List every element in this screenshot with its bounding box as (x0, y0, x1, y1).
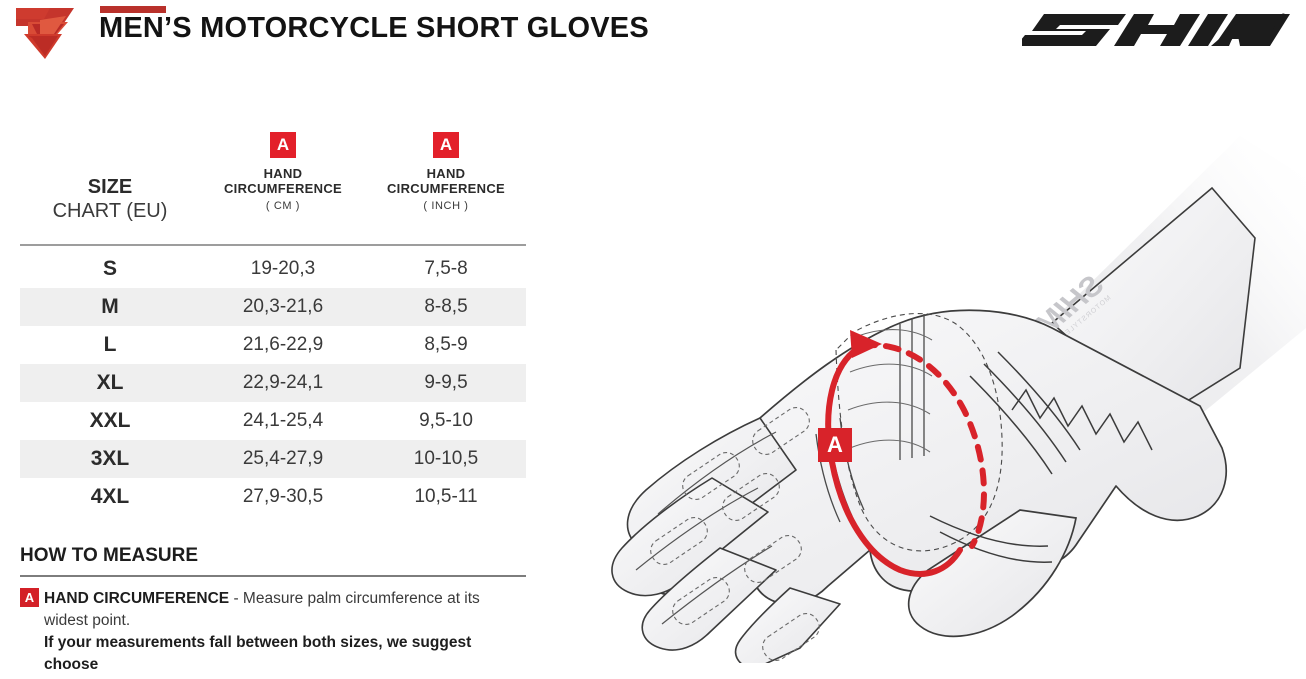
glove-illustration: SHIMA MOTORSTYLE ESTABLISHED 2008 (600, 118, 1306, 663)
cell-hand-circumference-inch: 8,5-9 (366, 326, 526, 364)
table-row: L21,6-22,98,5-9 (20, 326, 526, 364)
cell-size: L (20, 326, 200, 364)
cell-hand-circumference-inch: 9,5-10 (366, 402, 526, 440)
table-body: S19-20,37,5-8M20,3-21,68-8,5L21,6-22,98,… (20, 250, 526, 516)
measure-note-line1: If your measurements fall between both s… (44, 632, 540, 654)
shima-arrow-mark-icon (14, 4, 76, 60)
column-header-cm-line2: CIRCUMFERENCE (200, 181, 366, 196)
cell-hand-circumference-inch: 7,5-8 (366, 250, 526, 288)
cell-hand-circumference-cm: 25,4-27,9 (200, 440, 366, 478)
a-marker-badge-label: A (827, 432, 843, 457)
table-row: M20,3-21,68-8,5 (20, 288, 526, 326)
column-header-hand-circumference-cm: A HAND CIRCUMFERENCE ( CM ) (200, 132, 366, 213)
page-title: MEN’S MOTORCYCLE SHORT GLOVES (99, 12, 649, 44)
cell-hand-circumference-inch: 10,5-11 (366, 478, 526, 516)
cell-size: XXL (20, 402, 200, 440)
table-row: XXL24,1-25,49,5-10 (20, 402, 526, 440)
measure-item-hand-circumference: AHAND CIRCUMFERENCE - Measure palm circu… (20, 588, 540, 610)
table-row: XL22,9-24,19-9,5 (20, 364, 526, 402)
column-header-size: SIZE CHART (EU) (20, 132, 200, 223)
measure-item-text: - Measure palm circumference at its (229, 590, 480, 607)
cell-hand-circumference-cm: 20,3-21,6 (200, 288, 366, 326)
table-row: S19-20,37,5-8 (20, 250, 526, 288)
cell-size: M (20, 288, 200, 326)
size-chart-page: MEN’S MOTORCYCLE SHORT GLOVES ® SIZE CHA… (0, 0, 1306, 679)
how-to-measure-section: HOW TO MEASURE AHAND CIRCUMFERENCE - Mea… (20, 545, 540, 676)
a-badge-inch-icon: A (433, 132, 459, 158)
shima-wordmark-logo: ® (1022, 6, 1292, 52)
column-header-inch-unit: ( INCH ) (366, 199, 526, 213)
cell-size: XL (20, 364, 200, 402)
cell-hand-circumference-cm: 24,1-25,4 (200, 402, 366, 440)
table-header-divider (20, 244, 526, 246)
column-header-inch-line1: HAND (366, 166, 526, 181)
cell-hand-circumference-cm: 19-20,3 (200, 250, 366, 288)
column-header-inch-line2: CIRCUMFERENCE (366, 181, 526, 196)
column-header-cm-line1: HAND (200, 166, 366, 181)
cell-hand-circumference-cm: 22,9-24,1 (200, 364, 366, 402)
cell-hand-circumference-cm: 21,6-22,9 (200, 326, 366, 364)
column-header-hand-circumference-inch: A HAND CIRCUMFERENCE ( INCH ) (366, 132, 526, 213)
cell-size: 3XL (20, 440, 200, 478)
column-header-cm-unit: ( CM ) (200, 199, 366, 213)
cell-hand-circumference-inch: 10-10,5 (366, 440, 526, 478)
a-badge-measure-icon: A (20, 588, 39, 607)
column-header-size-sub: CHART (EU) (20, 199, 200, 223)
how-to-measure-title: HOW TO MEASURE (20, 545, 540, 567)
table-row: 3XL25,4-27,910-10,5 (20, 440, 526, 478)
cell-hand-circumference-inch: 9-9,5 (366, 364, 526, 402)
measure-note-line2: choose (44, 654, 540, 676)
table-row: 4XL27,9-30,510,5-11 (20, 478, 526, 516)
registered-mark: ® (1280, 12, 1287, 22)
cell-size: 4XL (20, 478, 200, 516)
a-badge-cm-icon: A (270, 132, 296, 158)
column-header-size-main: SIZE (20, 176, 200, 199)
page-header: MEN’S MOTORCYCLE SHORT GLOVES ® (0, 0, 1306, 62)
how-to-measure-body: AHAND CIRCUMFERENCE - Measure palm circu… (20, 588, 540, 676)
measure-item-label: HAND CIRCUMFERENCE (44, 590, 229, 607)
measure-item-text-line2: widest point. (44, 610, 540, 632)
size-chart-table: SIZE CHART (EU) A HAND CIRCUMFERENCE ( C… (20, 132, 526, 244)
cell-size: S (20, 250, 200, 288)
cell-hand-circumference-cm: 27,9-30,5 (200, 478, 366, 516)
cell-hand-circumference-inch: 8-8,5 (366, 288, 526, 326)
how-to-measure-divider (20, 575, 526, 577)
table-header-row: SIZE CHART (EU) A HAND CIRCUMFERENCE ( C… (20, 132, 526, 244)
